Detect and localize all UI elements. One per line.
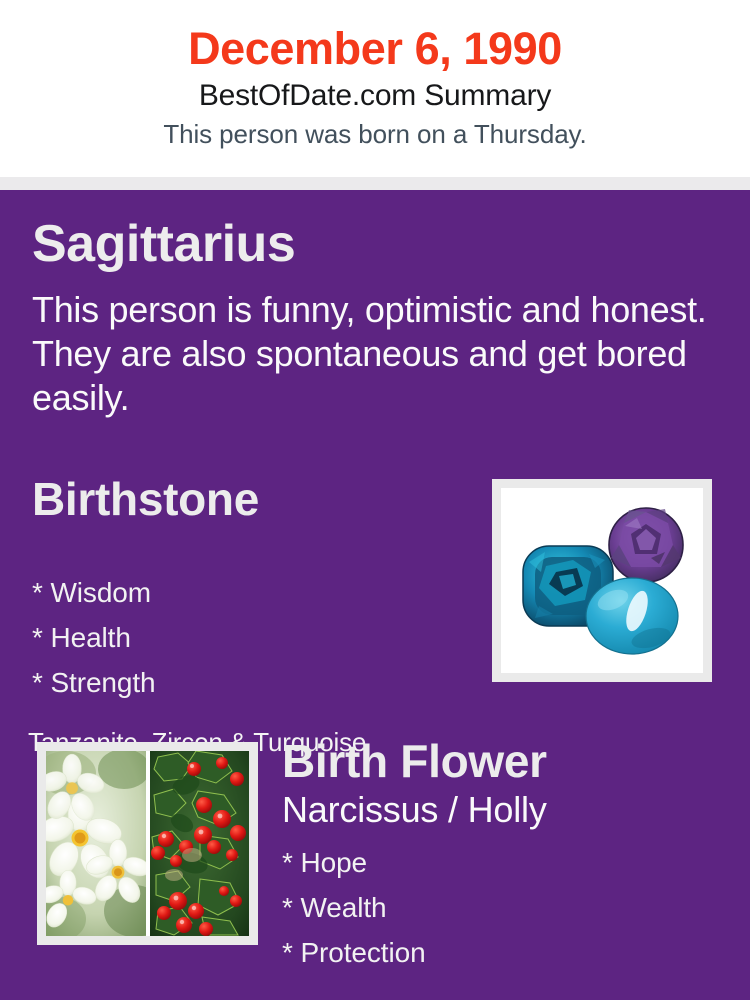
list-item: * Protection	[282, 930, 426, 975]
birthstone-image-frame	[492, 479, 712, 682]
narcissus-holly-illustration	[46, 751, 249, 936]
birth-flower-title: Birth Flower	[282, 735, 547, 787]
turquoise-cabochon	[586, 578, 678, 654]
list-item: * Strength	[32, 660, 156, 705]
page-title: December 6, 1990	[0, 22, 750, 76]
gemstones-illustration	[501, 488, 703, 673]
birthstone-title: Birthstone	[32, 473, 259, 525]
holly-photo-half	[150, 751, 249, 936]
birth-flower-trait-list: * Hope * Wealth * Protection	[282, 840, 426, 975]
summary-card: December 6, 1990 BestOfDate.com Summary …	[0, 0, 750, 1000]
birthstone-image	[501, 488, 703, 673]
list-item: * Health	[32, 615, 156, 660]
list-item: * Hope	[282, 840, 426, 885]
list-item: * Wealth	[282, 885, 426, 930]
card-header: December 6, 1990 BestOfDate.com Summary …	[0, 0, 750, 177]
birth-flower-image	[46, 751, 249, 936]
birth-flower-subtitle: Narcissus / Holly	[282, 788, 547, 832]
list-item: * Wisdom	[32, 570, 156, 615]
site-summary-label: BestOfDate.com Summary	[0, 76, 750, 116]
born-weekday-text: This person was born on a Thursday.	[0, 116, 750, 152]
header-divider	[0, 177, 750, 190]
birthstone-trait-list: * Wisdom * Health * Strength	[32, 570, 156, 705]
tanzanite-gem	[609, 508, 683, 582]
zodiac-description: This person is funny, optimistic and hon…	[32, 288, 724, 420]
birth-flower-image-frame	[37, 742, 258, 945]
zodiac-sign-title: Sagittarius	[32, 215, 295, 273]
